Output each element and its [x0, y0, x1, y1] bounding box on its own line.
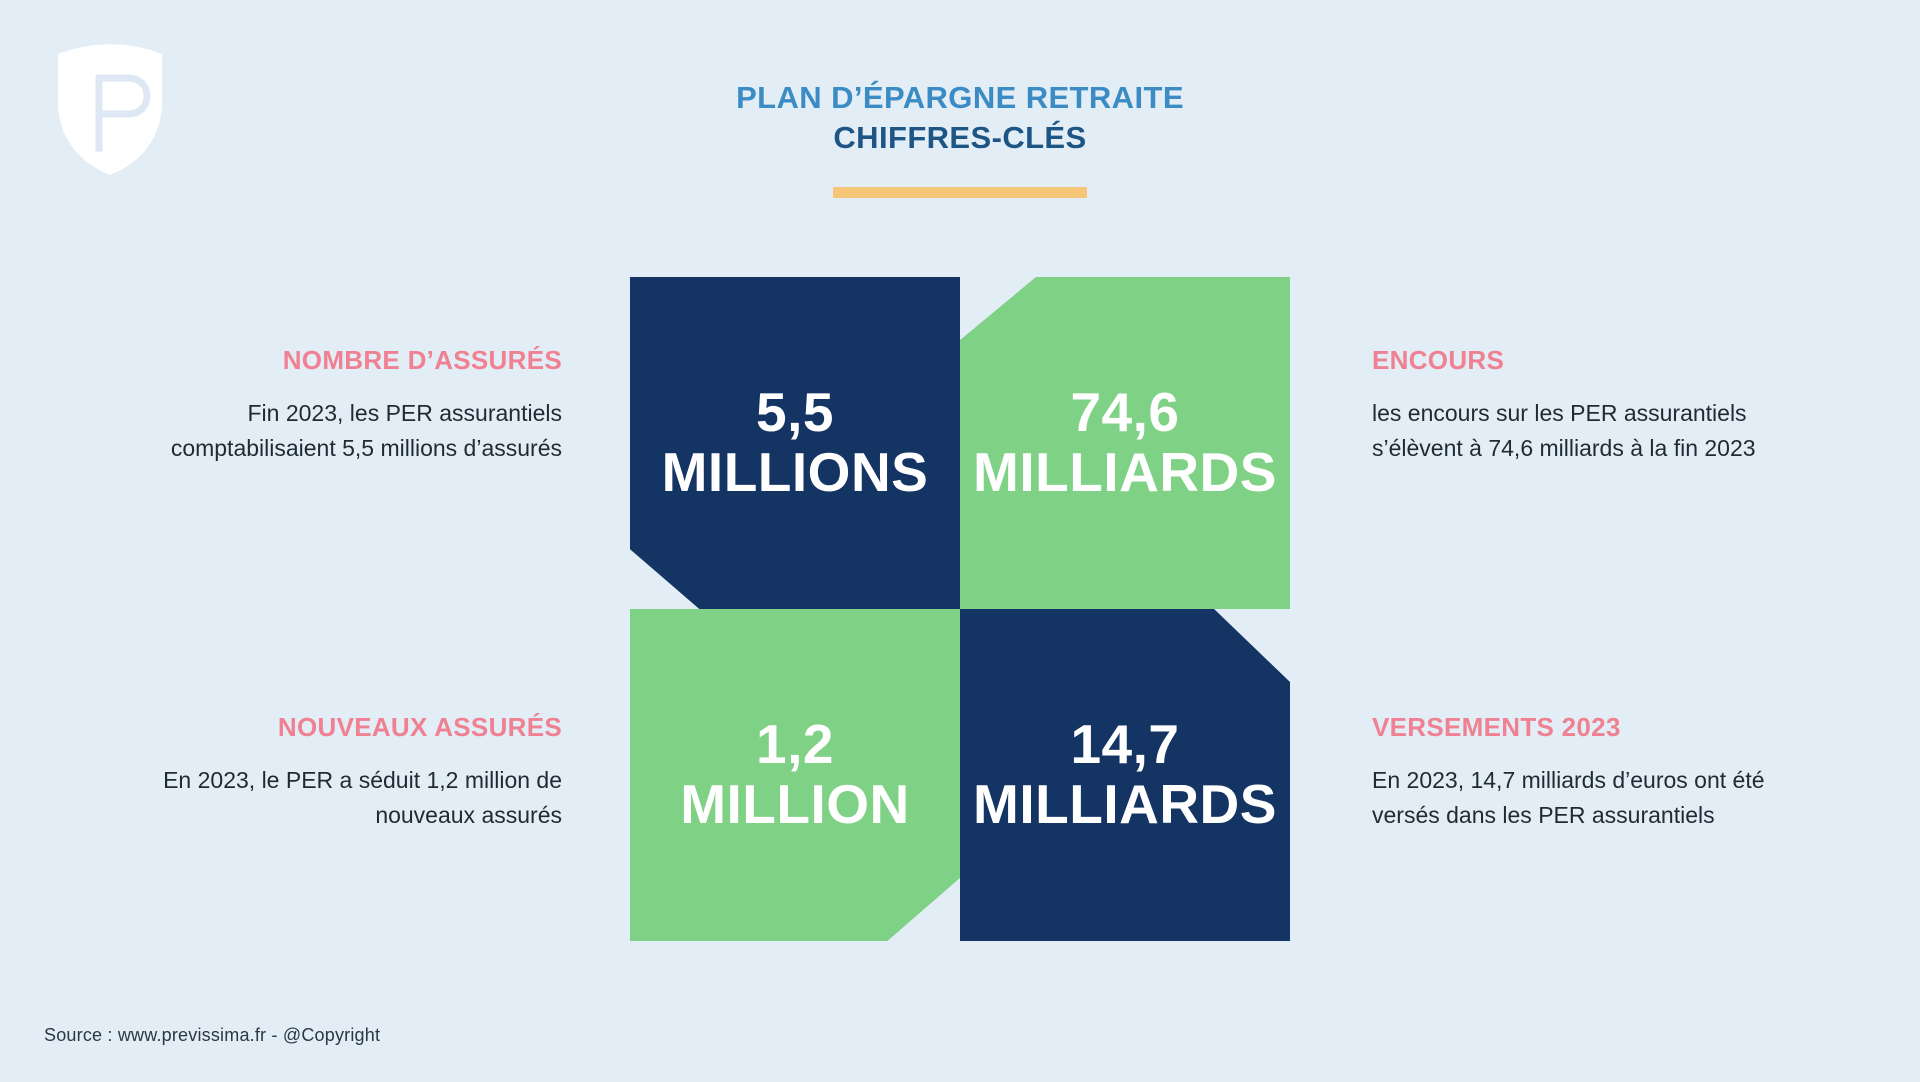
block-heading: NOMBRE D’ASSURÉS	[142, 345, 562, 376]
info-block-encours: ENCOURS les encours sur les PER assurant…	[1372, 345, 1792, 466]
block-heading: ENCOURS	[1372, 345, 1792, 376]
stat-value: 14,7	[1070, 715, 1179, 774]
title-line-1: PLAN D’ÉPARGNE RETRAITE	[0, 78, 1920, 118]
stat-value: 1,2	[756, 715, 834, 774]
stat-tile-nombre-assures: 5,5 MILLIONS	[630, 277, 960, 609]
key-figures-grid: 5,5 MILLIONS 74,6 MILLIARDS 1,2 MILLION …	[630, 277, 1290, 941]
info-block-nombre-assures: NOMBRE D’ASSURÉS Fin 2023, les PER assur…	[142, 345, 562, 466]
block-heading: NOUVEAUX ASSURÉS	[142, 712, 562, 743]
title-underline-rule	[833, 187, 1087, 198]
stat-tile-versements: 14,7 MILLIARDS	[960, 609, 1290, 941]
block-description: En 2023, le PER a séduit 1,2 million de …	[142, 763, 562, 833]
stat-unit: MILLIONS	[662, 442, 929, 504]
info-block-nouveaux-assures: NOUVEAUX ASSURÉS En 2023, le PER a sédui…	[142, 712, 562, 833]
page-title: PLAN D’ÉPARGNE RETRAITE CHIFFRES-CLÉS	[0, 78, 1920, 198]
stat-value: 74,6	[1070, 383, 1179, 442]
info-block-versements: VERSEMENTS 2023 En 2023, 14,7 milliards …	[1372, 712, 1792, 833]
source-credit: Source : www.previssima.fr - @Copyright	[44, 1025, 380, 1046]
stat-value: 5,5	[756, 383, 834, 442]
block-heading: VERSEMENTS 2023	[1372, 712, 1792, 743]
stat-unit: MILLIARDS	[973, 774, 1277, 836]
block-description: les encours sur les PER assurantiels s’é…	[1372, 396, 1792, 466]
stat-tile-encours: 74,6 MILLIARDS	[960, 277, 1290, 609]
block-description: En 2023, 14,7 milliards d’euros ont été …	[1372, 763, 1792, 833]
block-description: Fin 2023, les PER assurantiels comptabil…	[142, 396, 562, 466]
stat-unit: MILLION	[680, 774, 910, 836]
stat-unit: MILLIARDS	[973, 442, 1277, 504]
stat-tile-nouveaux-assures: 1,2 MILLION	[630, 609, 960, 941]
title-line-2: CHIFFRES-CLÉS	[0, 118, 1920, 158]
